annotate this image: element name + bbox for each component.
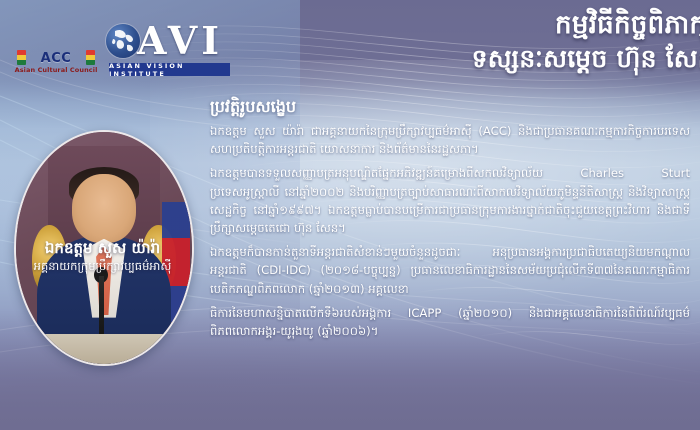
acc-logo: ACC Asian Cultural Council — [10, 38, 102, 88]
biography-paragraph-1: ឯកឧត្តម សួស យ៉ារ៉ា ជាអគ្គនាយកនៃក្រុមប្រឹ… — [210, 122, 690, 158]
slide-title-line2: ទស្សនៈសម្តេច ហ៊ុន សែន — [294, 42, 700, 76]
acc-acronym: ACC — [10, 38, 102, 66]
avi-logo: AVI ASIAN VISION INSTITUTE — [106, 22, 230, 80]
biography-paragraph-3: ឯកឧត្តមក៏បានកាន់តួនាទីអន្តរជាតិសំខាន់ៗមួ… — [210, 243, 690, 298]
slide-title: កម្មវិធីកិច្ចពិភាក្ស ទស្សនៈសម្តេច ហ៊ុន ស… — [294, 8, 700, 76]
acc-full-name: Asian Cultural Council — [10, 66, 102, 75]
biography-content: ប្រវត្តិរូបសង្ខេប ឯកឧត្តម សួស យ៉ារ៉ា ជាអ… — [210, 96, 690, 340]
photo-desk — [16, 334, 192, 364]
acc-logo-text: ACC Asian Cultural Council — [10, 38, 102, 75]
avi-full-name: ASIAN VISION INSTITUTE — [109, 62, 230, 78]
speaker-name: ឯកឧត្តម សួស យ៉ារ៉ា — [0, 238, 205, 258]
slide-title-line1: កម្មវិធីកិច្ចពិភាក្ស — [294, 8, 700, 42]
section-heading: ប្រវត្តិរូបសង្ខេប — [210, 96, 690, 118]
avi-acronym: AVI — [137, 20, 223, 62]
slide-header: ACC Asian Cultural Council AVI ASI — [0, 0, 700, 92]
speaker-role: អគ្គនាយកក្រុមប្រឹក្សាវប្បធម៌អាស៊ី — [0, 258, 205, 275]
speaker-caption: ឯកឧត្តម សួស យ៉ារ៉ា អគ្គនាយកក្រុមប្រឹក្សា… — [0, 238, 205, 275]
photo-face — [72, 174, 135, 244]
presentation-slide: ACC Asian Cultural Council AVI ASI — [0, 0, 700, 430]
biography-paragraph-4: ធិការនៃមហាសន្និបាតលើកទី៦របស់អង្គការ ICAP… — [210, 304, 690, 340]
biography-paragraph-2: ឯកឧត្តមបានទទួលសញ្ញាបត្រអនុបណ្ឌិតផ្នែកអភិ… — [210, 164, 690, 237]
globe-icon — [106, 24, 140, 58]
avi-name-band: ASIAN VISION INSTITUTE — [109, 63, 230, 76]
